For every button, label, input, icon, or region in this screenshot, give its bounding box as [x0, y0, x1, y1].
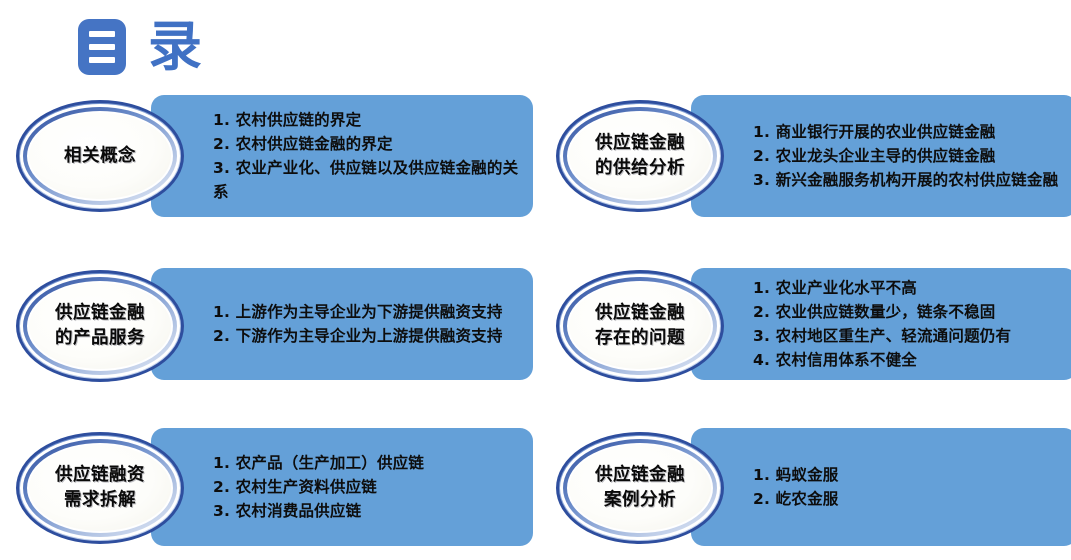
toc-entry-2-badge[interactable]: 供应链金融 的供给分析: [556, 100, 724, 212]
list-item: 2. 农业供应链数量少，链条不稳固: [753, 300, 1071, 324]
list-item: 1. 蚂蚁金服: [753, 463, 1071, 487]
badge-label-line-1: 相关概念: [64, 144, 136, 169]
page-title: 录: [78, 16, 202, 78]
toc-entry-3-list: 1. 上游作为主导企业为下游提供融资支持 2. 下游作为主导企业为上游提供融资支…: [213, 268, 531, 380]
toc-entry-5-list: 1. 农产品（生产加工）供应链 2. 农村生产资料供应链 3. 农村消费品供应链: [213, 428, 531, 546]
toc-row: 1. 上游作为主导企业为下游提供融资支持 2. 下游作为主导企业为上游提供融资支…: [0, 262, 1071, 392]
toc-entry-4-badge[interactable]: 供应链金融 存在的问题: [556, 270, 724, 382]
badge-label-line-2: 案例分析: [604, 488, 676, 513]
badge-inner-face: 供应链融资 需求拆解: [29, 445, 171, 531]
toc-entry-1-panel: 1. 农村供应链的界定 2. 农村供应链金融的界定 3. 农业产业化、供应链以及…: [151, 95, 533, 217]
badge-label-line-1: 供应链融资: [55, 463, 145, 488]
page-title-text: 录: [148, 19, 202, 75]
badge-inner-face: 供应链金融 的产品服务: [29, 283, 171, 369]
list-item: 1. 农产品（生产加工）供应链: [213, 451, 529, 475]
list-item: 1. 农村供应链的界定: [213, 108, 529, 132]
menu-bar-1: [89, 31, 115, 37]
toc-entry-2[interactable]: 1. 商业银行开展的农业供应链金融 2. 农业龙头企业主导的供应链金融 3. 新…: [548, 92, 1071, 222]
badge-label-line-1: 供应链金融: [55, 301, 145, 326]
toc-grid: 1. 农村供应链的界定 2. 农村供应链金融的界定 3. 农业产业化、供应链以及…: [0, 92, 1071, 560]
toc-entry-2-list: 1. 商业银行开展的农业供应链金融 2. 农业龙头企业主导的供应链金融 3. 新…: [753, 95, 1071, 217]
badge-inner-face: 供应链金融 的供给分析: [569, 113, 711, 199]
toc-entry-2-panel: 1. 商业银行开展的农业供应链金融 2. 农业龙头企业主导的供应链金融 3. 新…: [691, 95, 1071, 217]
badge-inner-face: 供应链金融 存在的问题: [569, 283, 711, 369]
badge-label-line-2: 需求拆解: [64, 488, 136, 513]
list-item: 2. 农业龙头企业主导的供应链金融: [753, 144, 1071, 168]
list-item: 2. 屹农金服: [753, 487, 1071, 511]
list-item: 2. 农村生产资料供应链: [213, 475, 529, 499]
toc-entry-4-panel: 1. 农业产业化水平不高 2. 农业供应链数量少，链条不稳固 3. 农村地区重生…: [691, 268, 1071, 380]
badge-label-line-1: 供应链金融: [595, 131, 685, 156]
list-item: 1. 农业产业化水平不高: [753, 276, 1071, 300]
badge-label-line-1: 供应链金融: [595, 463, 685, 488]
toc-entry-1-badge[interactable]: 相关概念: [16, 100, 184, 212]
list-item: 2. 农村供应链金融的界定: [213, 132, 529, 156]
toc-entry-3[interactable]: 1. 上游作为主导企业为下游提供融资支持 2. 下游作为主导企业为上游提供融资支…: [8, 262, 533, 392]
menu-bar-3: [89, 57, 115, 63]
list-item: 3. 农业产业化、供应链以及供应链金融的关系: [213, 156, 529, 204]
list-item: 3. 农村消费品供应链: [213, 499, 529, 523]
list-item: 1. 上游作为主导企业为下游提供融资支持: [213, 300, 529, 324]
badge-label-line-2: 存在的问题: [595, 326, 685, 351]
list-item: 2. 下游作为主导企业为上游提供融资支持: [213, 324, 529, 348]
toc-entry-5-badge[interactable]: 供应链融资 需求拆解: [16, 432, 184, 544]
toc-entry-6-panel: 1. 蚂蚁金服 2. 屹农金服: [691, 428, 1071, 546]
toc-entry-1[interactable]: 1. 农村供应链的界定 2. 农村供应链金融的界定 3. 农业产业化、供应链以及…: [8, 92, 533, 222]
toc-entry-4-list: 1. 农业产业化水平不高 2. 农业供应链数量少，链条不稳固 3. 农村地区重生…: [753, 268, 1071, 380]
badge-label-line-1: 供应链金融: [595, 301, 685, 326]
list-item: 1. 商业银行开展的农业供应链金融: [753, 120, 1071, 144]
badge-label-line-2: 的产品服务: [55, 326, 145, 351]
toc-entry-6[interactable]: 1. 蚂蚁金服 2. 屹农金服 供应链金融 案例分析: [548, 424, 1071, 554]
list-item: 3. 农村地区重生产、轻流通问题仍有: [753, 324, 1071, 348]
list-menu-icon: [78, 19, 126, 75]
toc-row: 1. 农产品（生产加工）供应链 2. 农村生产资料供应链 3. 农村消费品供应链…: [0, 424, 1071, 554]
toc-entry-4[interactable]: 1. 农业产业化水平不高 2. 农业供应链数量少，链条不稳固 3. 农村地区重生…: [548, 262, 1071, 392]
badge-inner-face: 相关概念: [29, 113, 171, 199]
list-item: 4. 农村信用体系不健全: [753, 348, 1071, 372]
badge-inner-face: 供应链金融 案例分析: [569, 445, 711, 531]
toc-entry-1-list: 1. 农村供应链的界定 2. 农村供应链金融的界定 3. 农业产业化、供应链以及…: [213, 95, 531, 217]
toc-entry-6-badge[interactable]: 供应链金融 案例分析: [556, 432, 724, 544]
toc-row: 1. 农村供应链的界定 2. 农村供应链金融的界定 3. 农业产业化、供应链以及…: [0, 92, 1071, 222]
toc-entry-5-panel: 1. 农产品（生产加工）供应链 2. 农村生产资料供应链 3. 农村消费品供应链: [151, 428, 533, 546]
list-item: 3. 新兴金融服务机构开展的农村供应链金融: [753, 168, 1071, 192]
toc-entry-6-list: 1. 蚂蚁金服 2. 屹农金服: [753, 428, 1071, 546]
menu-bar-2: [89, 44, 115, 50]
toc-entry-5[interactable]: 1. 农产品（生产加工）供应链 2. 农村生产资料供应链 3. 农村消费品供应链…: [8, 424, 533, 554]
toc-entry-3-badge[interactable]: 供应链金融 的产品服务: [16, 270, 184, 382]
badge-label-line-2: 的供给分析: [595, 156, 685, 181]
toc-entry-3-panel: 1. 上游作为主导企业为下游提供融资支持 2. 下游作为主导企业为上游提供融资支…: [151, 268, 533, 380]
